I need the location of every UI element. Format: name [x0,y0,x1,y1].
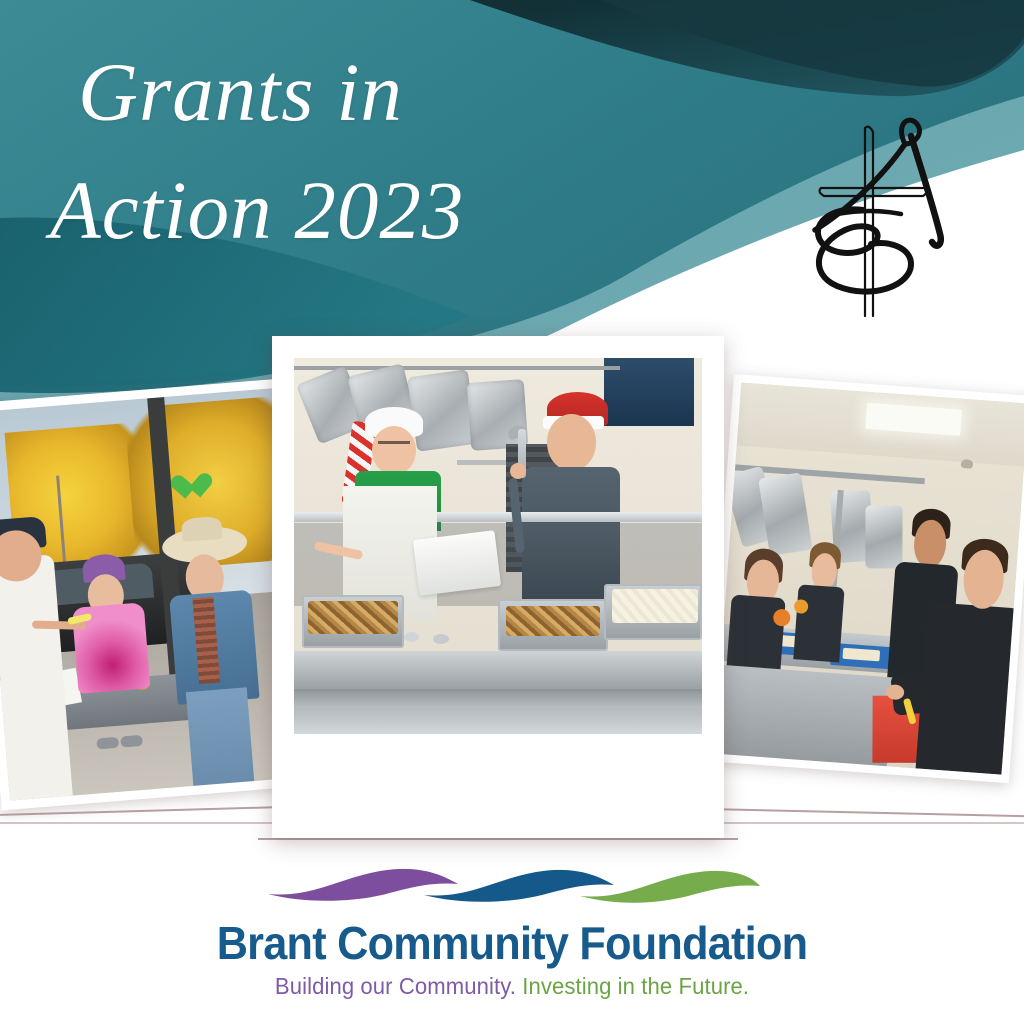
poster-canvas: Grants in Action 2023 [0,0,1024,1024]
green-heart-decal [176,474,208,503]
photo-center-image [294,358,702,734]
photo-right-image [714,383,1024,775]
photo-shadow-line-left [0,806,290,816]
bcf-wave-ribbons-icon [262,862,762,914]
photo-left-image [0,388,311,801]
photo-center-santa-hat-serving-line [272,336,724,838]
bcf-tagline: Building our Community. Investing in the… [20,973,1003,1000]
bcf-tagline-part-1: Building our Community. [275,973,516,999]
bcf-organization-name: Brant Community Foundation [31,920,994,968]
photo-right-youth-kitchen-prep [706,374,1024,783]
photo-shadow-line-center [258,838,738,840]
bcf-tagline-part-2: Investing in the Future. [522,973,749,999]
agency-monogram-logo [793,110,983,325]
photo-shadow-line-right [724,808,1024,817]
brant-community-foundation-logo: Brant Community Foundation Building our … [0,862,1024,1000]
